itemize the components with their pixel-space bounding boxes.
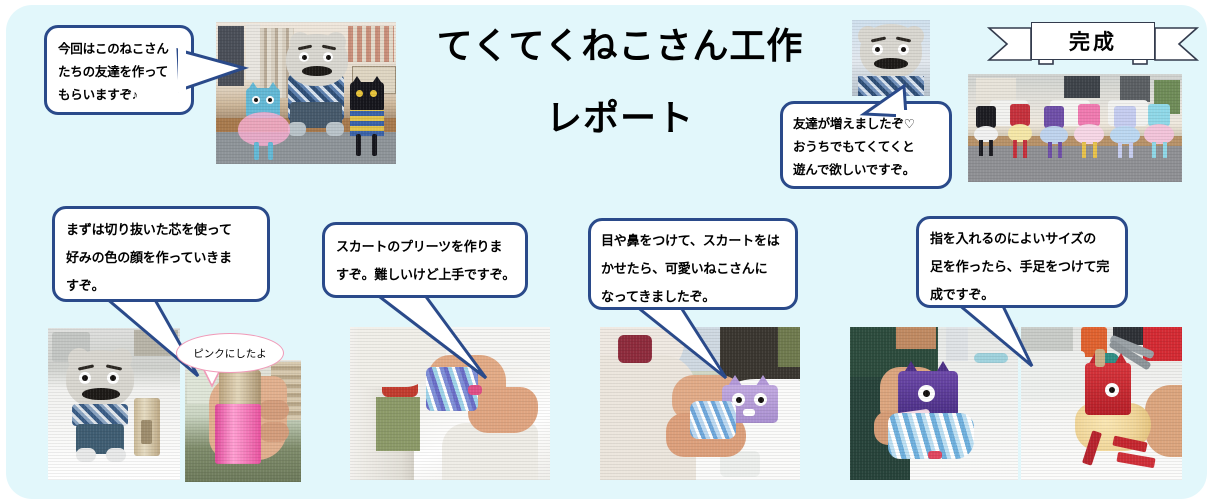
photo-step-4b bbox=[1021, 327, 1182, 480]
title-line-2: レポート bbox=[420, 96, 820, 140]
intro-bubble-text: 今回はこのねこさん たちの友達を作って もらいますぞ♪ bbox=[47, 28, 191, 107]
page-title: てくてくねこさん工作 レポート bbox=[420, 24, 820, 140]
completion-banner-label-box: 完成 bbox=[1031, 22, 1155, 60]
step-3-bubble-tail bbox=[630, 304, 740, 384]
step-4-text: 指を入れるのによいサイズの 足を作ったら、手足をつけて完 成ですぞ。 bbox=[919, 219, 1125, 309]
step-3-text: 目や鼻をつけて、スカートをは かせたら、可愛いねこさんに なってきましたぞ。 bbox=[591, 221, 795, 311]
pink-bubble-text: ピンクにしたよ bbox=[193, 346, 267, 361]
title-line-1: てくてくねこさん工作 bbox=[420, 24, 820, 68]
intro-bubble: 今回はこのねこさん たちの友達を作って もらいますぞ♪ bbox=[44, 25, 194, 115]
step-4-bubble: 指を入れるのによいサイズの 足を作ったら、手足をつけて完 成ですぞ。 bbox=[916, 216, 1128, 308]
step-4-bubble-tail bbox=[954, 302, 1044, 372]
poster-root: てくてくねこさん工作 レポート 今回はこのねこさん たちの友達を作って もらいま… bbox=[0, 0, 1213, 504]
outro-bubble-tail bbox=[860, 84, 920, 120]
pink-bubble: ピンクにしたよ bbox=[176, 333, 284, 373]
step-2-bubble-tail bbox=[370, 292, 500, 384]
completion-banner-label: 完成 bbox=[1069, 26, 1117, 56]
step-2-text: スカートのプリーツを作りま すぞ。難しいけど上手ですぞ。 bbox=[325, 225, 525, 289]
intro-bubble-tail bbox=[178, 46, 248, 96]
step-3-bubble: 目や鼻をつけて、スカートをは かせたら、可愛いねこさんに なってきましたぞ。 bbox=[588, 218, 798, 310]
step-1-text: まずは切り抜いた芯を使って 好みの色の顔を作っていきま すぞ。 bbox=[55, 209, 267, 300]
step-2-bubble: スカートのプリーツを作りま すぞ。難しいけど上手ですぞ。 bbox=[322, 222, 528, 298]
step-1-bubble: まずは切り抜いた芯を使って 好みの色の顔を作っていきま すぞ。 bbox=[52, 206, 270, 302]
photo-finished-crafts bbox=[968, 74, 1182, 182]
completion-banner: 完成 bbox=[985, 20, 1201, 66]
